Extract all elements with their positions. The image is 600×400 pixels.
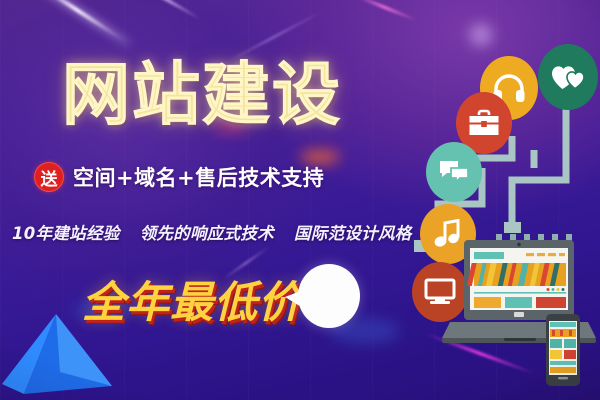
- promo-banner: 网站建设 送 空间+域名+售后技术支持 10年建站经验 领先的响应式技术 国际范…: [0, 0, 600, 400]
- vignette: [0, 0, 600, 400]
